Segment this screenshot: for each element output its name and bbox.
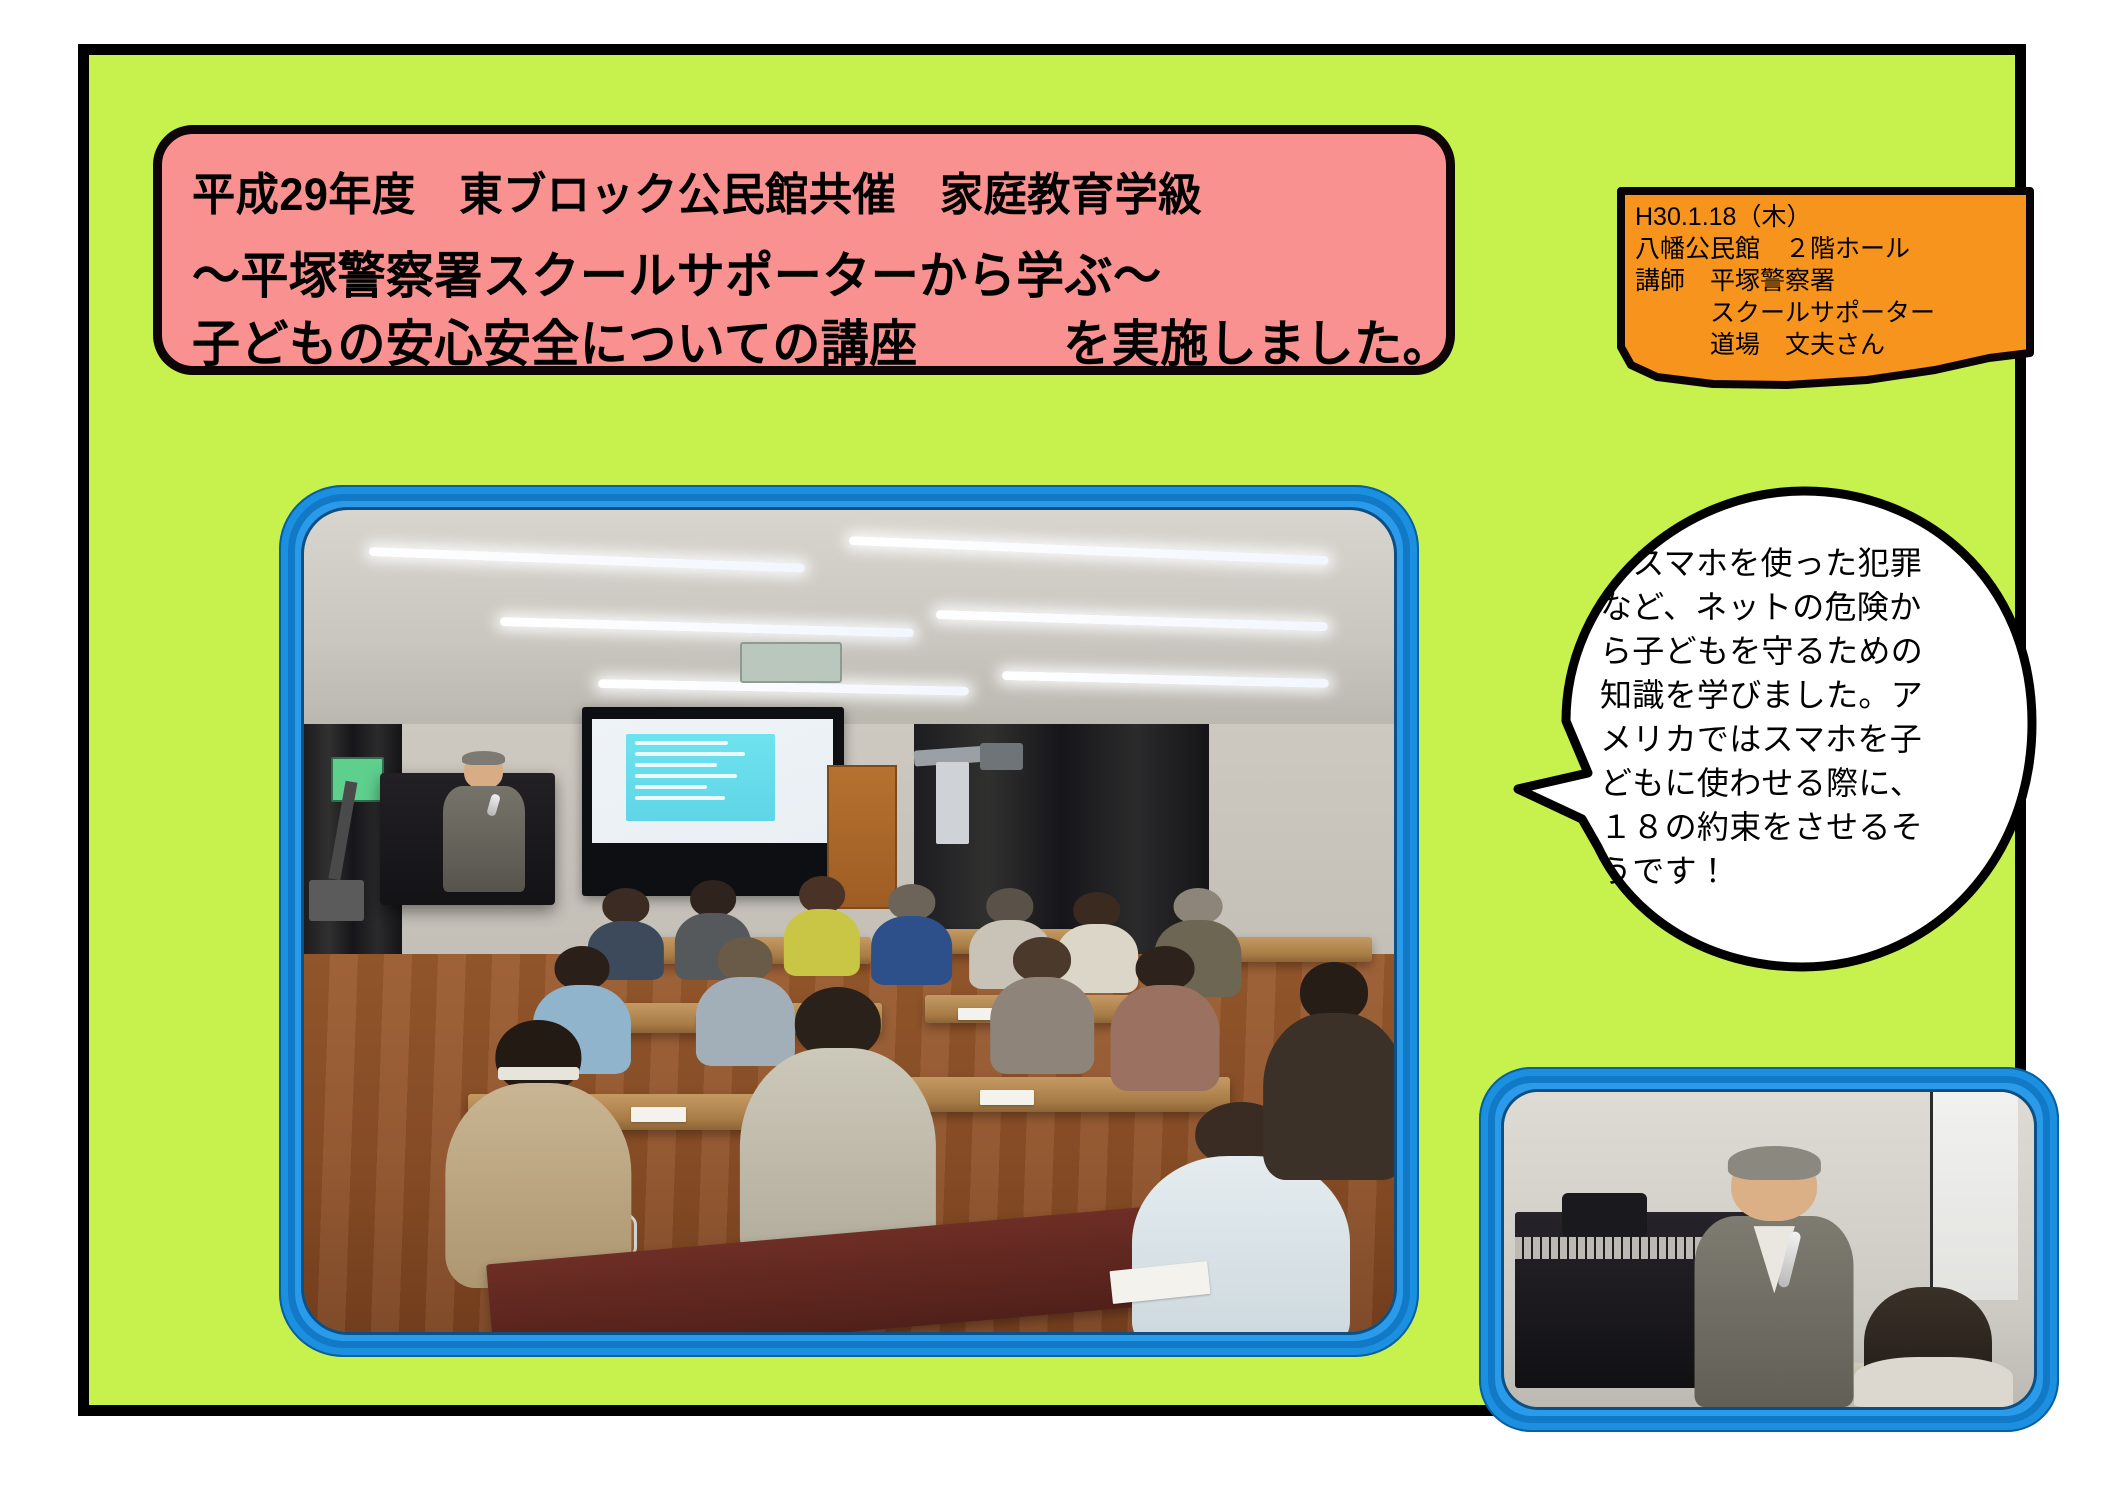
second-photo-frame	[1479, 1067, 2059, 1432]
speech-bubble-text: スマホを使った犯罪 など、ネットの危険か ら子どもを守るための 知識を学びました…	[1600, 541, 1970, 893]
event-info-box: H30.1.18（木） 八幡公民館 ２階ホール 講師 平塚警察署 スクールサポー…	[1617, 187, 2034, 389]
attendee-head	[554, 946, 609, 990]
attendee-head	[1136, 946, 1195, 991]
attendee-head	[1013, 937, 1071, 982]
poster-canvas: 平成29年度 東ブロック公民館共催 家庭教育学級 ～平塚警察署スクールサポーター…	[78, 44, 2026, 1416]
title-line-2: ～平塚警察署スクールサポーターから学ぶ～	[192, 242, 1396, 310]
attendee-head	[1173, 888, 1222, 924]
lecturer-suit	[443, 786, 525, 892]
attendee-head	[986, 888, 1033, 924]
whiteboard	[1930, 1092, 2018, 1300]
ceiling-vent	[740, 642, 842, 683]
title-line-3: 子どもの安心安全についての講座 を実施しました。	[192, 310, 1396, 378]
audience-coat	[1854, 1357, 2013, 1407]
main-photo	[304, 510, 1394, 1332]
speech-bubble: スマホを使った犯罪 など、ネットの危険か ら子どもを守るための 知識を学びました…	[1504, 483, 2044, 975]
attendee-body	[871, 916, 953, 985]
lecturer-hair	[1728, 1146, 1820, 1180]
whiteboard-edge	[936, 762, 969, 844]
attendee-head	[718, 937, 773, 981]
attendee-foreground	[446, 1020, 631, 1283]
attendee	[1263, 962, 1394, 1176]
hair-clip	[498, 1067, 580, 1080]
projector-screen	[582, 707, 844, 896]
projector-mount	[980, 743, 1024, 769]
main-photo-frame	[279, 485, 1419, 1357]
attendee	[991, 937, 1095, 1069]
equipment-box	[309, 880, 364, 921]
handout-paper	[631, 1107, 686, 1122]
title-banner: 平成29年度 東ブロック公民館共催 家庭教育学級 ～平塚警察署スクールサポーター…	[153, 125, 1455, 375]
attendee-head	[1073, 892, 1120, 928]
attendee-body	[1132, 1156, 1350, 1332]
attendee-head	[799, 876, 845, 913]
attendee-head	[888, 884, 935, 920]
attendee-foreground	[740, 987, 936, 1266]
attendee-body	[1111, 985, 1220, 1091]
lecturer-figure	[1695, 1149, 1854, 1407]
title-line-1: 平成29年度 東ブロック公民館共催 家庭教育学級	[192, 158, 1396, 232]
main-photo-inner-ring	[288, 494, 1410, 1348]
second-photo-scene	[1504, 1092, 2034, 1407]
attendee	[871, 884, 953, 983]
attendee-body	[1263, 1013, 1394, 1180]
projector-screen-surface	[592, 719, 833, 844]
lecturer-figure	[435, 752, 533, 892]
bag-on-piano	[1562, 1193, 1647, 1237]
main-photo-scene	[304, 510, 1394, 1332]
attendee-head	[602, 888, 649, 924]
projected-slide	[626, 734, 775, 821]
second-photo	[1504, 1092, 2034, 1407]
exit-sign	[331, 757, 384, 802]
event-info-text: H30.1.18（木） 八幡公民館 ２階ホール 講師 平塚警察署 スクールサポー…	[1635, 201, 2027, 361]
attendee-body	[784, 909, 860, 976]
second-photo-inner-ring	[1488, 1076, 2050, 1423]
lecturer-hair	[462, 751, 505, 765]
attendee	[784, 876, 860, 975]
attendee-head	[690, 880, 736, 917]
handout-paper	[980, 1090, 1035, 1105]
attendee	[1111, 946, 1220, 1086]
attendee-body	[991, 977, 1095, 1074]
